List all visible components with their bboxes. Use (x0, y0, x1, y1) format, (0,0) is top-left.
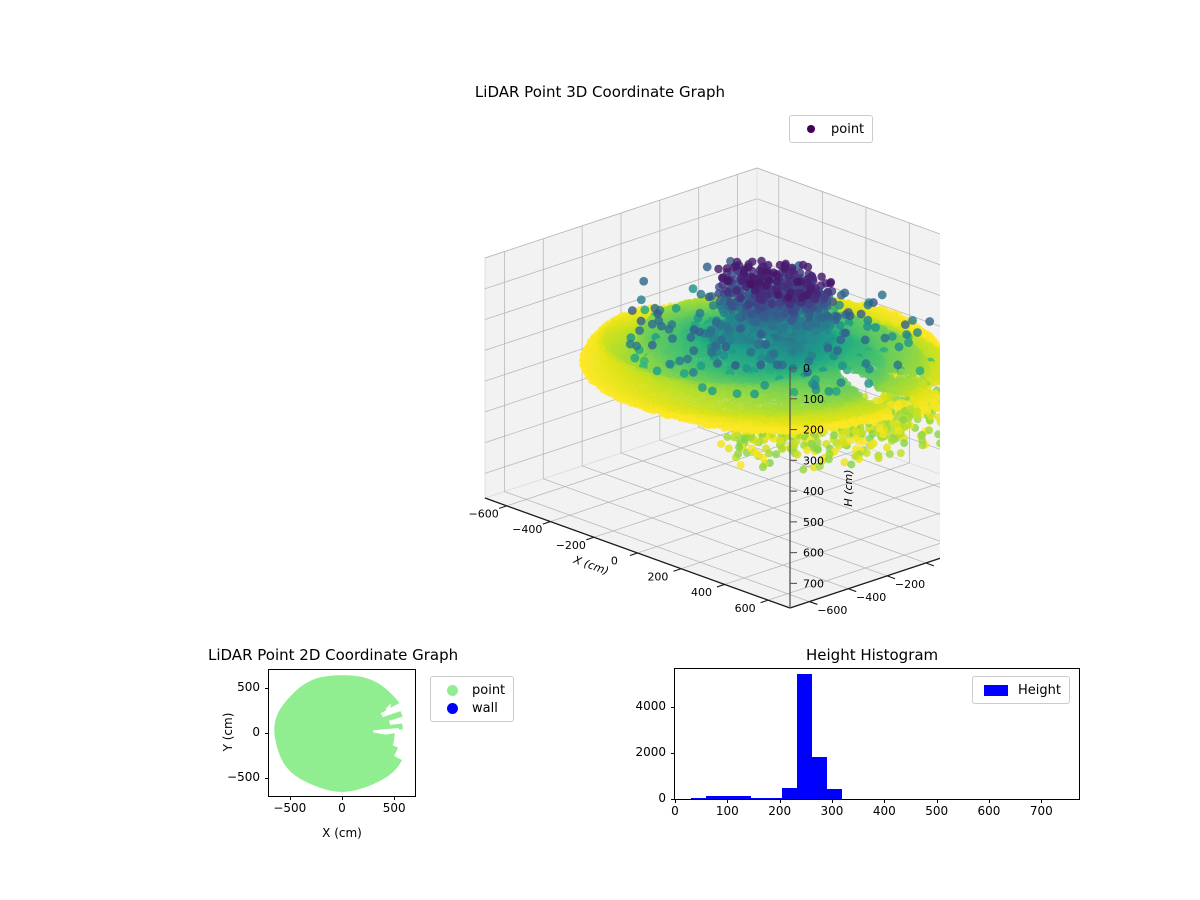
y-tick-label: 2000 (612, 745, 666, 759)
x-tick-mark (1041, 799, 1042, 803)
x-tick-label: 500 (907, 804, 967, 818)
x-tick-mark (884, 799, 885, 803)
axis-tick-label: 700 (803, 577, 824, 590)
y-tick-label: 500 (208, 680, 260, 694)
histogram-bar (812, 757, 827, 799)
chart-hist-title: Height Histogram (806, 646, 938, 664)
histogram-bar (691, 798, 706, 799)
axis-tick-label: 0 (803, 362, 810, 375)
axis-tick-label: 400 (803, 485, 824, 498)
dot-icon (439, 685, 465, 696)
x-tick-label: 0 (645, 804, 705, 818)
x-tick-label: 200 (750, 804, 810, 818)
x-tick-mark (937, 799, 938, 803)
x-tick-label: 400 (854, 804, 914, 818)
axis-tick-label: −600 (469, 508, 499, 521)
legend-label: point (465, 683, 505, 698)
y-tick-mark (265, 688, 269, 689)
x-axis-label: X (cm) (302, 826, 382, 840)
legend-label: wall (465, 701, 498, 716)
legend-item: Height (981, 681, 1061, 699)
y-axis-label: Y (cm) (221, 702, 235, 762)
axis-tick-label: −400 (856, 591, 886, 604)
axis-tick-label: 500 (803, 516, 824, 529)
axis-tick-label: −200 (556, 539, 586, 552)
x-tick-mark (780, 799, 781, 803)
x-tick-label: 0 (312, 801, 372, 815)
axis-tick-label: 600 (803, 547, 824, 560)
x-tick-label: 500 (364, 801, 424, 815)
y-tick-mark (671, 799, 675, 800)
chart-3d-axes[interactable]: −600−400−2000200400600−600−400−200020040… (300, 110, 940, 630)
legend-2d: point wall (430, 676, 514, 722)
histogram-bar (736, 796, 751, 799)
axis-tick-label: 300 (803, 454, 824, 467)
x-tick-mark (989, 799, 990, 803)
histogram-bar (706, 796, 721, 799)
histogram-bar (751, 798, 766, 799)
axis-tick-label: 100 (803, 393, 824, 406)
y-tick-label: 4000 (612, 699, 666, 713)
y-tick-mark (671, 753, 675, 754)
x-tick-mark (290, 796, 291, 800)
axis-tick-label: 0 (611, 555, 618, 568)
axis-tick-label: 400 (691, 586, 712, 599)
histogram-bar (782, 788, 797, 799)
x-tick-mark (394, 796, 395, 800)
histogram-bar (827, 789, 842, 799)
chart-2d-plot-area[interactable] (268, 669, 416, 797)
x-tick-label: 600 (959, 804, 1019, 818)
z-axis-label: H (cm) (842, 469, 855, 506)
x-tick-label: 100 (697, 804, 757, 818)
y-tick-mark (265, 778, 269, 779)
x-tick-mark (832, 799, 833, 803)
color-swatch (981, 685, 1011, 696)
y-tick-label: 0 (612, 791, 666, 805)
chart-3d-title: LiDAR Point 3D Coordinate Graph (0, 83, 1200, 101)
x-tick-mark (675, 799, 676, 803)
y-tick-mark (671, 707, 675, 708)
axis-tick-label: 200 (803, 424, 824, 437)
axis-tick-label: 600 (735, 602, 756, 615)
y-tick-mark (265, 733, 269, 734)
histogram-bar (797, 674, 812, 799)
legend-hist: Height (972, 676, 1070, 704)
axis-tick-label: 200 (647, 570, 668, 583)
dot-icon (439, 703, 465, 714)
x-tick-mark (727, 799, 728, 803)
legend-label: Height (1011, 683, 1061, 698)
x-axis-label: X (cm) (571, 553, 611, 578)
y-tick-label: −500 (208, 770, 260, 784)
x-tick-label: 700 (1011, 804, 1071, 818)
legend-item: wall (439, 699, 505, 717)
axis-tick-label: −200 (895, 578, 925, 591)
chart-2d-title: LiDAR Point 2D Coordinate Graph (208, 646, 458, 664)
x-tick-mark (342, 796, 343, 800)
x-tick-label: −500 (260, 801, 320, 815)
x-tick-label: 300 (802, 804, 862, 818)
matplotlib-figure: LiDAR Point 3D Coordinate Graph point −6… (0, 0, 1200, 900)
axis-tick-label: −600 (817, 604, 847, 617)
histogram-bar (721, 796, 736, 799)
legend-item: point (439, 681, 505, 699)
axis-tick-label: −400 (512, 523, 542, 536)
